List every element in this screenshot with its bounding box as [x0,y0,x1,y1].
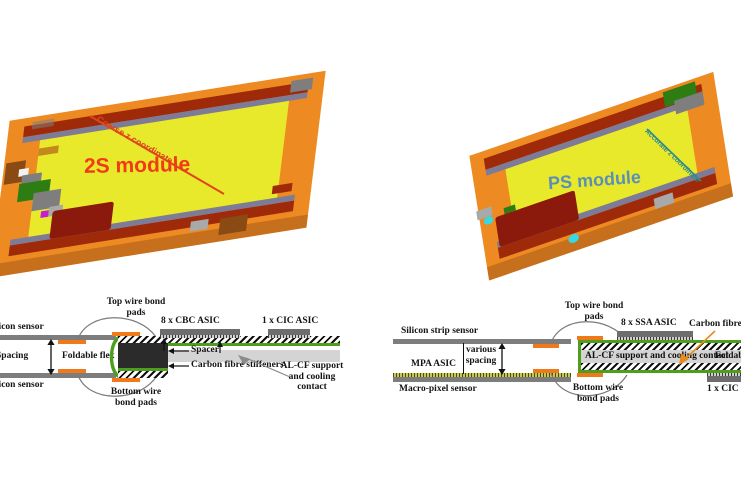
carbon-fibre-leader-ps [677,329,717,365]
flex-layer-bottom-2s [118,368,168,371]
spacer-pointer-2s [168,347,190,355]
carbon-fibre-bottom-ps [581,363,741,370]
module-3d-ps: Accurate z coordinate PS module [462,80,741,270]
label-foldable-flex-ps: Foldab [715,351,741,362]
cic-asic-body-ps [707,376,741,382]
label-silicon-sensor-bottom-2s: Silicon sensor [0,380,44,391]
label-top-wire-bond-pads-ps: Top wire bond pads [563,301,625,322]
carbon-fibre-top-ps [581,343,741,350]
macro-pixel-sensor-bar-ps [393,377,571,382]
label-alcf-support-2s: AL-CF support and cooling contact [276,361,348,393]
wire-bond-pad-bottom-stack-ps [577,373,603,377]
carbon-fibre-stiffener-bottom-2s [118,371,168,378]
label-ssa-asic-ps: 8 x SSA ASIC [621,318,677,329]
label-various-spacing-ps: various spacing [461,345,501,366]
label-cic-asic-ps: 1 x CIC [707,384,739,395]
wire-bond-pad-top-fold-2s [112,332,140,336]
label-silicon-sensor-top-2s: Silicon sensor [0,322,44,333]
spacing-arrow-2s [44,339,58,375]
label-bottom-wire-bond-pads-2s: Bottom wire bond pads [104,387,168,408]
cross-section-ps: Silicon strip sensor MPA ASIC Macro-pixe… [385,295,741,415]
label-cbc-asic-2s: 8 x CBC ASIC [161,316,220,327]
wire-bond-pad-top-stack-ps [577,336,603,340]
label-mpa-asic-ps: MPA ASIC [411,359,456,370]
label-bottom-wire-bond-pads-ps: Bottom wire bond pads [567,383,629,404]
module-title-2s: 2S module [84,153,191,179]
label-spacer-2s: Spacer [191,345,219,356]
label-spacing-2s: Spacing [0,351,28,362]
cbc-asic-bumps-2s [160,335,240,338]
cross-section-2s: Silicon sensor Silicon sensor Spacing Fo… [0,295,345,415]
stiffener-up-arrow-2s [160,338,168,352]
module-3d-2s: Coarse z coordinate 2S module [0,72,342,272]
wire-bond-pad-bottom-fold-2s [112,378,140,382]
label-carbon-fibre-ps: Carbon fibre s [689,319,741,330]
carbon-fibre-pointer-2s [168,362,190,370]
label-silicon-strip-sensor-ps: Silicon strip sensor [401,326,478,337]
label-cic-asic-2s: 1 x CIC ASIC [262,316,318,327]
figure-canvas: Coarse z coordinate 2S module [0,0,741,486]
label-top-wire-bond-pads-2s: Top wire bond pads [104,297,168,318]
cic-asic-bumps-2s [268,335,310,338]
flex-endcap-ps [578,340,581,373]
label-macro-pixel-sensor-ps: Macro-pixel sensor [399,384,477,395]
